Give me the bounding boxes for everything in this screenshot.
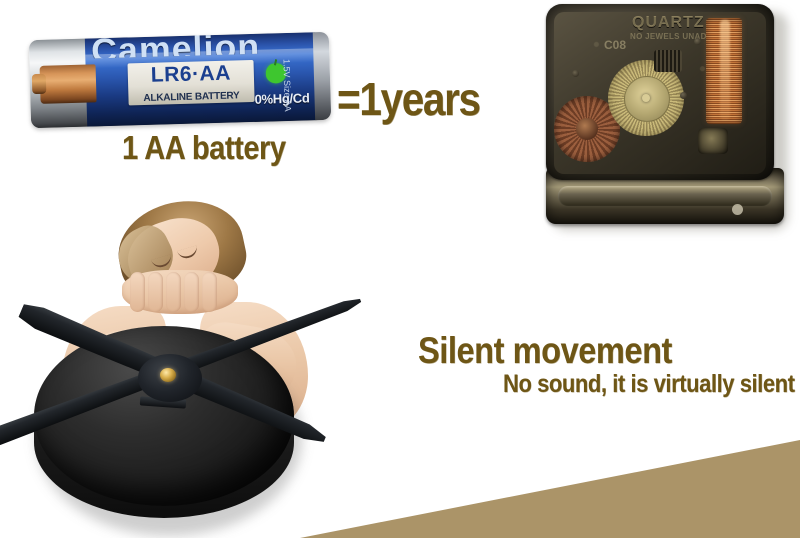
gear-center-pin: [642, 94, 650, 102]
battery-chemistry-text: ALKALINE BATTERY: [128, 90, 254, 105]
battery-compartment-slot: [558, 186, 772, 206]
rotor-hub: [576, 118, 598, 140]
promo-banner: Camelion LR6·AA ALKALINE BATTERY 0%Hg/Cd…: [0, 0, 800, 538]
screw-hole: [698, 128, 728, 154]
coil-highlight: [720, 20, 730, 120]
silent-movement-subline: No sound, it is virtually silent: [503, 372, 795, 397]
rivet-icon: [694, 38, 701, 45]
pinion-teeth: [654, 50, 682, 72]
rivet-icon: [572, 70, 579, 77]
rivet-icon: [680, 92, 687, 99]
clock-hands-assembly: [0, 250, 408, 538]
battery-positive-terminal: [40, 64, 97, 104]
quartz-movement-image: MADE IN CHINA QUARTZ NO JEWELS UNADJUSTE…: [546, 4, 788, 228]
battery-caption-text: 1 AA battery: [122, 131, 286, 164]
compartment-dot-icon: [732, 204, 743, 215]
brass-center-screw: [160, 368, 176, 382]
aa-battery-image: Camelion LR6·AA ALKALINE BATTERY 0%Hg/Cd…: [29, 32, 331, 128]
equals-one-year-text: =1years: [337, 76, 480, 122]
battery-model-text: LR6·AA: [128, 61, 255, 89]
battery-negative-cap: [313, 32, 331, 120]
movement-housing: QUARTZ NO JEWELS UNADJUSTED C08: [546, 4, 774, 180]
battery-label: LR6·AA ALKALINE BATTERY: [128, 60, 255, 106]
battery-side-note: 1.5V Size AA: [281, 59, 292, 112]
movement-code-text: C08: [604, 38, 626, 52]
silent-movement-headline: Silent movement: [418, 332, 672, 369]
movement-brand-text: QUARTZ: [632, 14, 705, 32]
battery-body: Camelion LR6·AA ALKALINE BATTERY 0%Hg/Cd…: [29, 32, 331, 128]
battery-terminal-nub: [32, 74, 47, 94]
